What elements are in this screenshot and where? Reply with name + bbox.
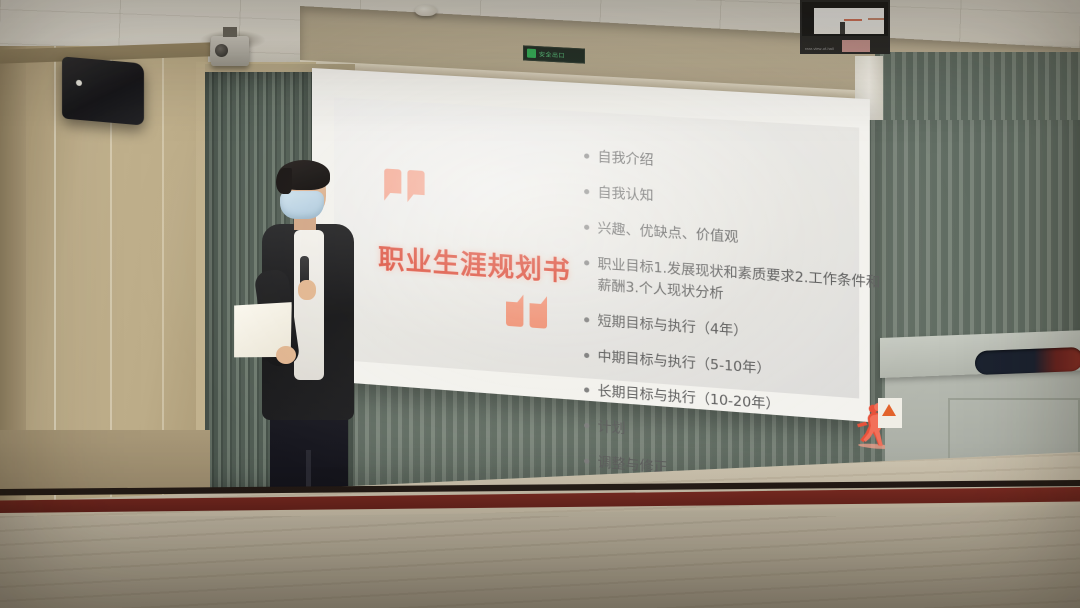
bullet-text: 自我认知 <box>598 183 884 222</box>
projection-screen: 职业生涯规划书 自我介绍 自我认知 兴趣、优缺点、价值观 <box>312 68 870 422</box>
list-item: 计划 <box>584 416 884 461</box>
list-item: 职业目标1.发展现状和素质要求2.工作条件和薪酬3.个人现状分析 <box>584 253 884 316</box>
bullet-dot-icon <box>584 459 589 464</box>
bullet-dot-icon <box>584 189 589 194</box>
warning-triangle-icon <box>882 404 896 416</box>
projector-lens-icon <box>215 44 228 57</box>
quote-open-icon <box>384 168 424 195</box>
bullet-text: 中期目标与执行（5-10年） <box>598 346 884 388</box>
bullet-dot-icon <box>584 224 589 229</box>
monitor-screen <box>814 8 884 34</box>
wall-speaker <box>62 56 144 125</box>
slide-title: 职业生涯规划书 <box>378 238 571 288</box>
bullet-text: 职业目标1.发展现状和素质要求2.工作条件和薪酬3.个人现状分析 <box>598 254 884 316</box>
ceiling-projector <box>211 36 249 66</box>
speaker-led-icon <box>76 80 82 87</box>
list-item: 长期目标与执行（10-20年） <box>584 381 884 425</box>
list-item: 兴趣、优缺点、价值观 <box>584 217 884 258</box>
presenter-hand-upper <box>298 280 316 300</box>
presenter-hand-lower <box>276 346 296 364</box>
monitor-content-line <box>844 19 862 21</box>
list-item: 中期目标与执行（5-10年） <box>584 345 884 388</box>
presenter-hair-side <box>276 168 292 194</box>
bullet-dot-icon <box>584 153 589 158</box>
warning-sign <box>878 398 902 428</box>
hall-floor-grain <box>0 516 1080 608</box>
bullet-dot-icon <box>584 388 589 393</box>
projector-mount <box>223 27 237 37</box>
bullet-dot-icon <box>584 352 589 357</box>
presenter-shirt <box>294 230 324 380</box>
bullet-text: 自我介绍 <box>598 147 884 186</box>
bullet-text: 短期目标与执行（4年） <box>598 311 884 353</box>
smoke-detector-icon <box>415 5 437 16</box>
lecture-hall-scene: 安全出口 职业生涯规划书 自我介绍 <box>0 0 1080 608</box>
list-item: 自我介绍 <box>584 146 884 186</box>
bullet-dot-icon <box>584 317 589 322</box>
quote-close-icon <box>506 302 547 329</box>
slide-bullet-list: 自我介绍 自我认知 兴趣、优缺点、价值观 职业目标1.发展现状和素质要求2.工作… <box>584 146 884 511</box>
list-item: 自我认知 <box>584 182 884 222</box>
lower-left-wall <box>0 430 210 490</box>
bullet-dot-icon <box>584 423 589 428</box>
slide-surface: 职业生涯规划书 自我介绍 自我认知 兴趣、优缺点、价值观 <box>334 97 859 398</box>
running-man-icon <box>527 49 536 58</box>
bullet-text: 兴趣、优缺点、价值观 <box>598 218 884 258</box>
monitor-desk-shape <box>842 40 870 52</box>
exit-sign-label: 安全出口 <box>539 49 565 59</box>
monitor-caption: rear-view-of-hall <box>805 46 834 51</box>
lectern-display <box>975 347 1080 375</box>
monitor-content-line <box>868 18 884 20</box>
list-item: 短期目标与执行（4年） <box>584 310 884 353</box>
face-mask-icon <box>280 191 324 219</box>
bullet-text: 长期目标与执行（10-20年） <box>598 382 884 425</box>
confidence-monitor: rear-view-of-hall <box>800 0 890 54</box>
bullet-dot-icon <box>584 260 589 265</box>
monitor-person-figure <box>840 22 845 34</box>
bullet-text: 计划 <box>598 417 884 461</box>
